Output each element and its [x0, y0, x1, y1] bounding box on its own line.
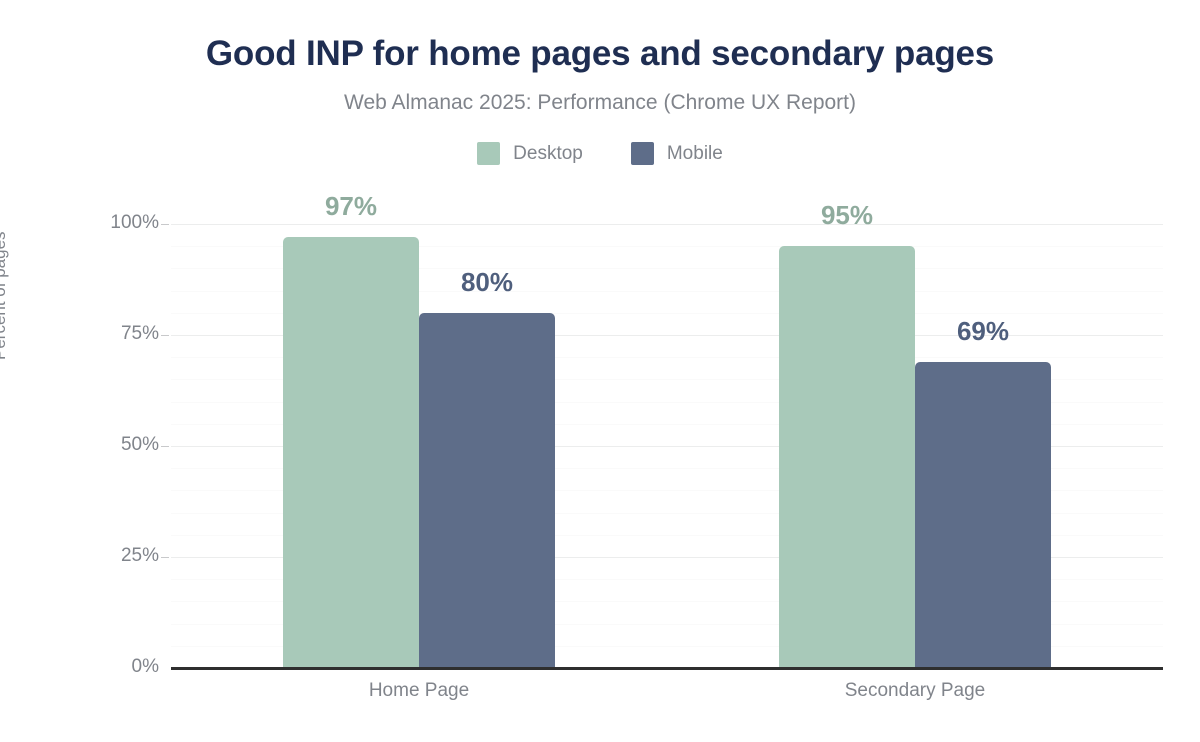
y-tick-label: 100% [0, 212, 159, 234]
bar-mobile-secondary-page[interactable] [915, 362, 1051, 668]
legend-label-desktop: Desktop [513, 143, 583, 165]
bar-value-label: 97% [271, 191, 431, 222]
legend-item-desktop[interactable]: Desktop [477, 142, 583, 165]
bar-value-label: 95% [767, 200, 927, 231]
y-tick-label: 75% [0, 323, 159, 345]
x-tick-label: Home Page [249, 680, 589, 702]
legend-swatch-mobile [631, 142, 654, 165]
y-tick-label: 0% [0, 656, 159, 678]
bar-mobile-home-page[interactable] [419, 313, 555, 668]
legend-swatch-desktop [477, 142, 500, 165]
chart-legend: Desktop Mobile [0, 142, 1200, 165]
bar-value-label: 69% [903, 316, 1063, 347]
chart-title: Good INP for home pages and secondary pa… [0, 34, 1200, 74]
bar-desktop-secondary-page[interactable] [779, 246, 915, 668]
chart-subtitle: Web Almanac 2025: Performance (Chrome UX… [0, 91, 1200, 115]
x-axis-line [171, 667, 1163, 670]
y-tick-label: 25% [0, 545, 159, 567]
legend-label-mobile: Mobile [667, 143, 723, 165]
legend-item-mobile[interactable]: Mobile [631, 142, 723, 165]
y-tick-mark [161, 224, 169, 225]
y-tick-mark [161, 335, 169, 336]
bar-value-label: 80% [407, 267, 567, 298]
y-tick-mark [161, 446, 169, 447]
chart-page: Good INP for home pages and secondary pa… [0, 0, 1200, 742]
x-tick-label: Secondary Page [745, 680, 1085, 702]
y-tick-mark [161, 557, 169, 558]
plot-area [171, 224, 1163, 668]
gridline-major [171, 224, 1163, 225]
y-tick-label: 50% [0, 434, 159, 456]
bar-desktop-home-page[interactable] [283, 237, 419, 668]
